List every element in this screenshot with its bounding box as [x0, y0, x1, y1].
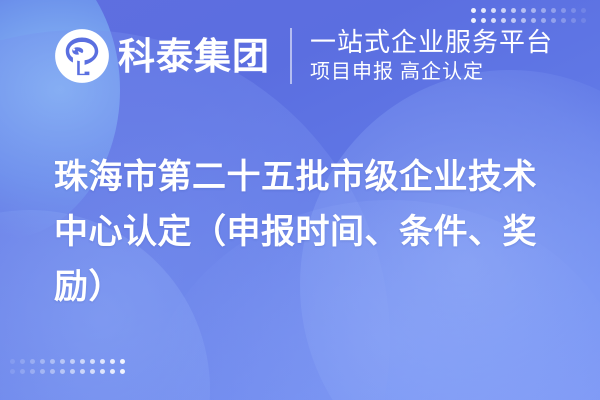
banner-header: 科泰集团 一站式企业服务平台 项目申报 高企认定 [0, 0, 600, 112]
dot-icon [50, 359, 55, 364]
dot-icon [80, 369, 85, 374]
tagline-secondary: 项目申报 高企认定 [310, 61, 553, 84]
dot-icon [100, 359, 105, 364]
dot-row [10, 359, 125, 364]
banner-title: 珠海市第二十五批市级企业技术 中心认定（申报时间、条件、奖 励） [54, 150, 554, 315]
dot-icon [60, 359, 65, 364]
dot-icon [110, 369, 115, 374]
dot-icon [10, 359, 15, 364]
dot-icon [30, 359, 35, 364]
tagline-primary: 一站式企业服务平台 [310, 28, 553, 58]
tagline-block: 一站式企业服务平台 项目申报 高企认定 [310, 28, 553, 85]
promo-banner: 科泰集团 一站式企业服务平台 项目申报 高企认定 珠海市第二十五批市级企业技术 … [0, 0, 600, 400]
brand-name: 科泰集团 [118, 38, 270, 75]
dot-icon [60, 369, 65, 374]
banner-title-line: 珠海市第二十五批市级企业技术 [54, 150, 554, 205]
dot-icon [90, 359, 95, 364]
banner-title-line: 中心认定（申报时间、条件、奖 [54, 205, 554, 260]
dot-icon [40, 369, 45, 374]
dot-icon [40, 359, 45, 364]
dot-icon [20, 369, 25, 374]
dot-icon [80, 359, 85, 364]
dot-icon [50, 369, 55, 374]
dot-icon [10, 369, 15, 374]
header-divider [290, 28, 292, 84]
brand-lockup: 科泰集团 [54, 28, 270, 84]
ketai-circle-logo-icon [54, 28, 110, 84]
banner-title-line: 励） [54, 260, 554, 315]
dot-icon [100, 369, 105, 374]
dot-icon [30, 369, 35, 374]
dot-icon [70, 369, 75, 374]
dot-icon [120, 359, 125, 364]
dot-icon [20, 359, 25, 364]
dot-icon [110, 359, 115, 364]
dot-icon [120, 369, 125, 374]
dot-icon [90, 369, 95, 374]
dot-grid-bottom-left-icon [10, 359, 125, 374]
dot-icon [70, 359, 75, 364]
dot-row [10, 369, 125, 374]
